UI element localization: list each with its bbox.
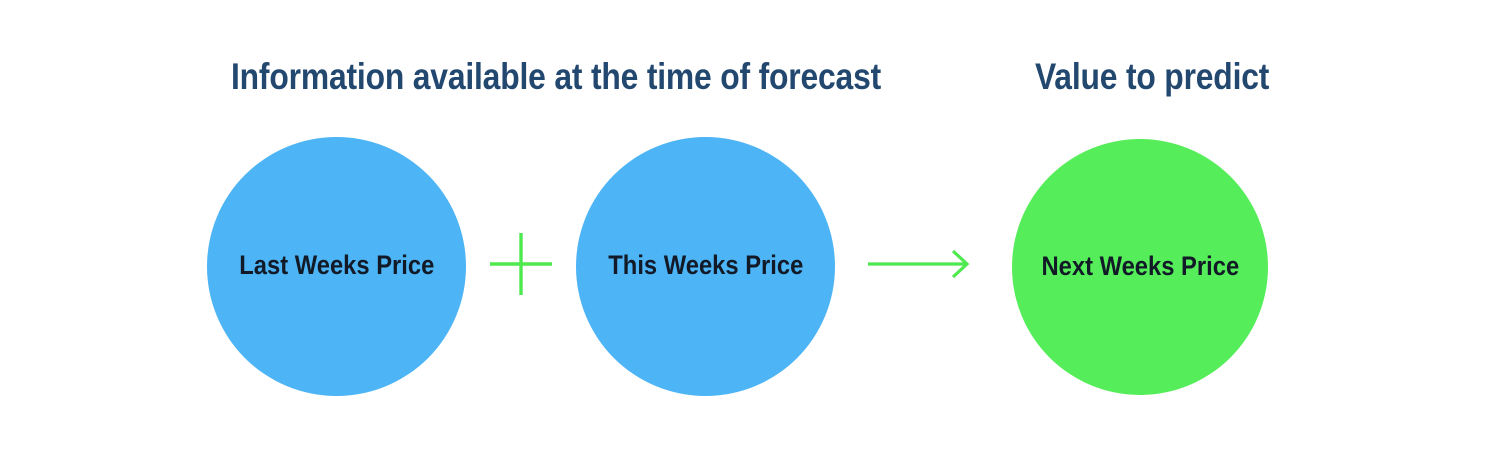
node-this-weeks-price[interactable]: This Weeks Price	[576, 137, 835, 396]
node-last-weeks-price[interactable]: Last Weeks Price	[207, 137, 466, 396]
node-label-last-weeks-price: Last Weeks Price	[239, 252, 434, 279]
plus-icon	[487, 230, 555, 298]
node-label-next-weeks-price: Next Weeks Price	[1041, 253, 1239, 280]
node-next-weeks-price[interactable]: Next Weeks Price	[1012, 139, 1268, 395]
arrow-right-icon	[860, 244, 978, 284]
heading-information-available: Information available at the time of for…	[231, 58, 881, 95]
diagram-canvas: Information available at the time of for…	[0, 0, 1510, 460]
node-label-this-weeks-price: This Weeks Price	[608, 252, 803, 279]
heading-value-to-predict: Value to predict	[1035, 58, 1269, 95]
